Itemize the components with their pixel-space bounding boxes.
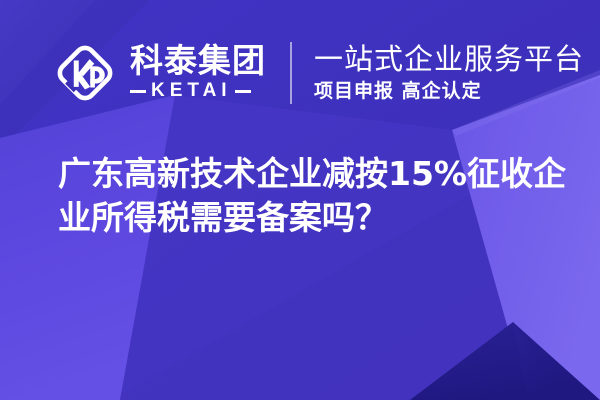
tagline-secondary: 项目申报 高企认定: [314, 80, 584, 103]
promo-banner: 科泰集团 KETAI 一站式企业服务平台 项目申报 高企认定 广东高新技术企业减…: [0, 0, 600, 400]
wordmark-rule-right: [235, 90, 251, 93]
header-tagline: 一站式企业服务平台 项目申报 高企认定: [314, 43, 584, 102]
headline-block: 广东高新技术企业减按15%征收企 业所得税需要备案吗？: [58, 152, 578, 240]
headline-line-2: 业所得税需要备案吗？: [58, 196, 578, 240]
brand-wordmark: 科泰集团 KETAI: [130, 44, 266, 103]
brand-name-cn: 科泰集团: [130, 44, 266, 78]
brand-name-en-row: KETAI: [130, 80, 266, 102]
tagline-primary: 一站式企业服务平台: [314, 43, 584, 75]
brand-name-en: KETAI: [151, 80, 232, 102]
header-divider: [290, 42, 292, 104]
wordmark-rule-left: [130, 90, 146, 93]
headline-line-1: 广东高新技术企业减按15%征收企: [58, 152, 578, 196]
ketai-diamond-kt-monogram-icon: [52, 40, 118, 106]
banner-header: 科泰集团 KETAI 一站式企业服务平台 项目申报 高企认定: [52, 34, 584, 112]
brand-logo[interactable]: 科泰集团 KETAI: [52, 34, 266, 112]
